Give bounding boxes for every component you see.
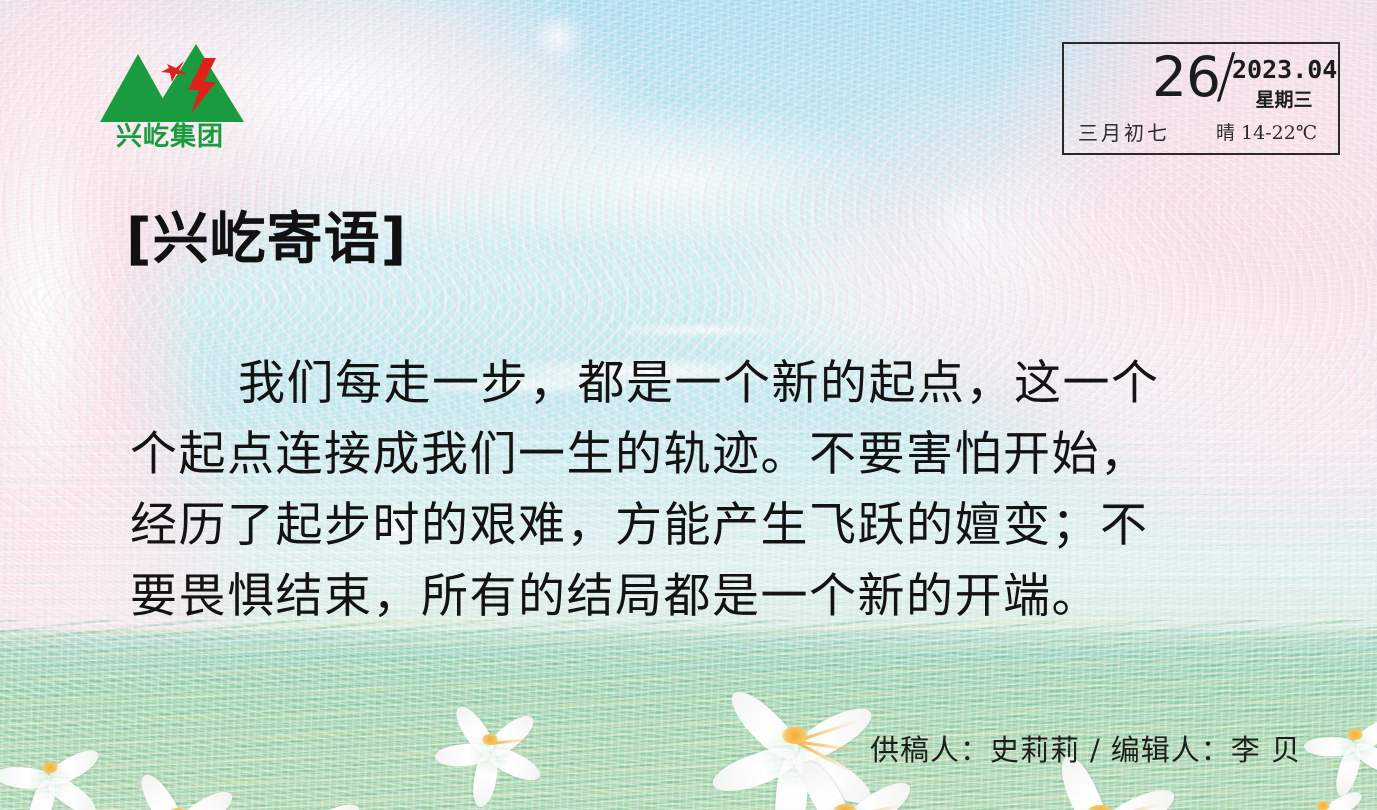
poster-canvas: 兴屹集团 26 / 2023.04 星期三 三月初七 晴 14-22℃ [兴屹寄… xyxy=(0,0,1377,810)
twin-mountain-star-bolt-icon xyxy=(92,38,248,124)
editor-name: 李 贝 xyxy=(1231,733,1301,767)
flower-decoration xyxy=(108,772,248,810)
company-logo-text: 兴屹集团 xyxy=(92,122,248,152)
contributor-label: 供稿人： xyxy=(870,733,990,767)
flower-decoration xyxy=(1275,776,1371,810)
flower-center xyxy=(1087,805,1112,810)
date-weather-card: 26 / 2023.04 星期三 三月初七 晴 14-22℃ xyxy=(1062,42,1340,155)
flower-petal xyxy=(171,784,238,810)
contributor-name: 史莉莉 xyxy=(990,733,1080,767)
body-line: 个起点连接成我们一生的轨迹。不要害怕开始， xyxy=(130,419,1250,490)
body-copy: 我们每走一步，都是一个新的起点，这一个 个起点连接成我们一生的轨迹。不要害怕开始… xyxy=(130,348,1250,632)
byline: 供稿人：史莉莉/编辑人：李 贝 xyxy=(0,730,1301,770)
flower-petal xyxy=(1304,737,1355,756)
date-day-number: 26 xyxy=(1070,46,1220,108)
body-line: 经历了起步时的艰难，方能产生飞跃的嬗变；不 xyxy=(130,490,1250,561)
date-weekday: 星期三 xyxy=(1232,88,1336,112)
body-line: 我们每走一步，都是一个新的起点，这一个 xyxy=(130,348,1250,419)
byline-separator: / xyxy=(1080,733,1111,767)
company-logo: 兴屹集团 xyxy=(92,38,248,156)
flower-center xyxy=(833,804,857,810)
flower-decoration xyxy=(240,780,370,810)
weather-summary: 晴 14-22℃ xyxy=(1216,118,1317,148)
page-title: [兴屹寄语] xyxy=(126,206,407,274)
body-line: 要畏惧结束，所有的结局都是一个新的开端。 xyxy=(130,561,1250,632)
date-year-month: 2023.04 xyxy=(1232,56,1336,84)
flower-center xyxy=(1347,729,1362,739)
flower-center xyxy=(1316,801,1329,810)
editor-label: 编辑人： xyxy=(1111,733,1231,767)
flower-petal xyxy=(300,798,364,810)
flower-decoration xyxy=(1300,700,1377,774)
date-lunar: 三月初七 xyxy=(1078,118,1170,148)
flower-petal xyxy=(134,769,188,810)
